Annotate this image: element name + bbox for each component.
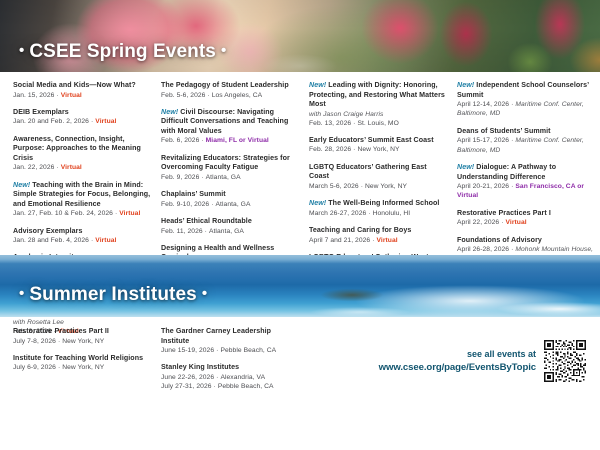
event-item[interactable]: New! Dialogue: A Pathway to Understandin… [457,163,599,201]
event-item[interactable]: Revitalizing Educators: Strategies for O… [161,154,300,182]
cta-text: see all events at www.csee.org/page/Even… [379,348,536,375]
event-meta-alt: July 27-31, 2026·Pebble Beach, CA [161,382,300,391]
event-title: New! Independent School Counselors’ Summ… [457,81,599,100]
event-title: New! Leading with Dignity: Honoring, Pro… [309,81,448,110]
event-meta: Feb. 5-6, 2026·Los Angeles, CA [161,91,300,100]
spring-events-grid: Social Media and Kids—Now What? Jan. 15,… [0,72,600,255]
event-location: Virtual [506,219,527,226]
event-meta: Feb. 28, 2026·New York, NY [309,145,448,154]
event-location: Virtual [95,237,116,244]
event-presenter: with Rosetta Lee [13,318,152,327]
event-meta: April 15-17, 2026·Maritime Conf. Center,… [457,136,599,155]
event-title: Chaplains’ Summit [161,190,300,200]
event-title: Advisory Exemplars [13,227,152,237]
event-dates: April 7 and 21, 2026 [309,237,370,244]
spring-banner-title: •CSEE Spring Events• [14,41,231,63]
event-title: LGBTQ Educators’ Gathering East Coast [309,163,448,182]
event-location: Virtual [119,210,140,217]
event-meta: Feb. 6, 2026·Miami, FL or Virtual [161,136,300,145]
new-badge: New! [457,163,474,171]
event-meta: April 20-21, 2026·San Francisco, CA or V… [457,182,599,201]
summer-column-1: Restorative Practices Part II July 7-8, … [13,327,152,387]
event-dates: Feb. 13, 2026 [309,120,351,127]
new-badge: New! [161,108,178,116]
event-dates: Jan. 27, Feb. 10 & Feb. 24, 2026 [13,210,113,217]
summer-banner-title-text: Summer Institutes [29,284,196,305]
event-title-text: Teaching with the Brain in Mind: Simple … [13,181,150,208]
event-location: St. Louis, MO [357,120,398,127]
event-meta: April 7 and 21, 2026·Virtual [309,236,448,245]
event-title-text: Civil Discourse: Navigating Difficult Co… [161,108,288,135]
event-item[interactable]: Institute for Teaching World Religions J… [13,354,152,373]
event-item[interactable]: Heads’ Ethical Roundtable Feb. 11, 2026·… [161,217,300,236]
event-title: Foundations of Advisory [457,236,599,246]
event-item[interactable]: Restorative Practices Part I April 22, 2… [457,209,599,228]
event-item[interactable]: Advisory Exemplars Jan. 28 and Feb. 4, 2… [13,227,152,246]
event-location: Alexandria, VA [220,374,265,381]
event-location: Los Angeles, CA [212,92,262,99]
event-dates: Feb. 6, 2026 [161,137,199,144]
cta-line-1: see all events at [379,348,536,361]
new-badge: New! [457,81,474,89]
event-dates: Jan. 15, 2026 [13,92,54,99]
event-title: Heads’ Ethical Roundtable [161,217,300,227]
summer-column-2: The Gardner Carney Leadership Institute … [161,327,300,387]
new-badge: New! [309,81,326,89]
bullet-right-icon: • [197,285,212,302]
event-item[interactable]: New! Teaching with the Brain in Mind: Si… [13,181,152,219]
event-dates-alt: July 27-31, 2026 [161,383,212,390]
event-dates: March 5-6, 2026 [309,183,359,190]
event-dates: Feb. 5-6, 2026 [161,92,205,99]
event-title-text: Independent School Counselors’ Summit [457,81,589,99]
event-item[interactable]: Deans of Students’ Summit April 15-17, 2… [457,127,599,155]
event-location: Virtual [61,164,82,171]
event-title: Revitalizing Educators: Strategies for O… [161,154,300,173]
event-location: Pebble Beach, CA [220,347,276,354]
event-title: Stanley King Institutes [161,363,300,373]
event-title: The Gardner Carney Leadership Institute [161,327,300,346]
event-dates: Jan. 20 and Feb. 2, 2026 [13,118,89,125]
event-title: The Pedagogy of Student Leadership [161,81,300,91]
event-meta: Feb. 9, 2026·Atlanta, GA [161,173,300,182]
event-item[interactable]: New! The Well-Being Informed School Marc… [309,199,448,218]
event-item[interactable]: New! Civil Discourse: Navigating Difficu… [161,108,300,146]
event-location: Virtual [61,92,82,99]
event-meta: July 7-8, 2026·New York, NY [13,337,152,346]
event-location: New York, NY [62,364,104,371]
new-badge: New! [13,181,30,189]
cta-url[interactable]: www.csee.org/page/EventsByTopic [379,361,536,375]
event-dates: Feb. 28, 2026 [309,146,351,153]
event-dates: April 20-21, 2026 [457,183,509,190]
event-dates: March 26-27, 2026 [309,210,366,217]
event-location: Virtual [95,118,116,125]
event-title: Deans of Students’ Summit [457,127,599,137]
spring-column-2: The Pedagogy of Student Leadership Feb. … [161,81,300,255]
event-location: New York, NY [62,338,104,345]
cta-block[interactable]: see all events at www.csee.org/page/Even… [309,327,590,387]
event-location: Honolulu, HI [373,210,411,217]
event-location: Atlanta, GA [206,174,241,181]
event-title-text: The Well-Being Informed School [328,199,439,207]
event-meta: July 6-9, 2026·New York, NY [13,363,152,372]
event-dates: Feb. 9, 2026 [161,174,199,181]
spring-banner-title-text: CSEE Spring Events [29,41,216,62]
event-item[interactable]: Stanley King Institutes June 22-26, 2026… [161,363,300,391]
event-meta: Jan. 27, Feb. 10 & Feb. 24, 2026·Virtual [13,209,152,218]
spring-column-3: New! Leading with Dignity: Honoring, Pro… [309,81,448,255]
bullet-left-icon: • [14,285,29,302]
event-meta: June 22-26, 2026·Alexandria, VA [161,373,300,382]
event-dates: April 12-14, 2026 [457,101,509,108]
event-meta: Jan. 22, 2026·Virtual [13,163,152,172]
event-dates: Feb. 11, 2026 [161,228,203,235]
event-dates: July 6-9, 2026 [13,364,56,371]
event-title: New! Teaching with the Brain in Mind: Si… [13,181,152,210]
event-dates: April 26-28, 2026 [457,246,509,253]
spring-column-1: Social Media and Kids—Now What? Jan. 15,… [13,81,152,255]
event-title: New! Dialogue: A Pathway to Understandin… [457,163,599,182]
event-item[interactable]: Social Media and Kids—Now What? Jan. 15,… [13,81,152,100]
spring-banner: •CSEE Spring Events• [0,0,600,72]
summer-banner-title: •Summer Institutes• [14,284,212,306]
event-location-alt: Pebble Beach, CA [218,383,274,390]
event-title: New! Civil Discourse: Navigating Difficu… [161,108,300,137]
event-title: Social Media and Kids—Now What? [13,81,152,91]
event-item[interactable]: LGBTQ Educators’ Gathering East Coast Ma… [309,163,448,191]
event-meta: April 22, 2026·Virtual [457,218,599,227]
event-item[interactable]: DEIB Exemplars Jan. 20 and Feb. 2, 2026·… [13,108,152,127]
summer-banner: •Summer Institutes• [0,255,600,317]
event-meta: March 5-6, 2026·New York, NY [309,182,448,191]
event-item[interactable]: The Pedagogy of Student Leadership Feb. … [161,81,300,100]
event-meta: Jan. 28 and Feb. 4, 2026·Virtual [13,236,152,245]
event-item[interactable]: Awareness, Connection, Insight, Purpose:… [13,135,152,173]
event-location: Atlanta, GA [216,201,251,208]
event-item[interactable]: Restorative Practices Part II July 7-8, … [13,327,152,346]
event-item[interactable]: Chaplains’ Summit Feb. 9-10, 2026·Atlant… [161,190,300,209]
event-location: Virtual [377,237,398,244]
event-dates: April 15-17, 2026 [457,137,509,144]
event-title: DEIB Exemplars [13,108,152,118]
event-dates: Feb. 9-10, 2026 [161,201,209,208]
qr-code-icon[interactable] [544,340,586,382]
event-item[interactable]: The Gardner Carney Leadership Institute … [161,327,300,355]
event-item[interactable]: Teaching and Caring for Boys April 7 and… [309,226,448,245]
event-meta: Feb. 13, 2026·St. Louis, MO [309,119,448,128]
event-title: Institute for Teaching World Religions [13,354,152,364]
event-presenter: with Jason Craige Harris [309,110,448,119]
event-meta: April 12-14, 2026·Maritime Conf. Center,… [457,100,599,119]
event-dates: April 22, 2026 [457,219,499,226]
event-title-text: Leading with Dignity: Honoring, Protecti… [309,81,445,108]
event-dates: Jan. 22, 2026 [13,164,54,171]
event-title: Early Educators’ Summit East Coast [309,136,448,146]
event-meta: Jan. 15, 2026·Virtual [13,91,152,100]
bullet-left-icon: • [14,42,29,59]
event-item[interactable]: New! Independent School Counselors’ Summ… [457,81,599,119]
event-title: Restorative Practices Part II [13,327,152,337]
event-item[interactable]: Early Educators’ Summit East Coast Feb. … [309,136,448,155]
event-location: Miami, FL or Virtual [206,137,269,144]
event-dates: June 15-19, 2026 [161,347,214,354]
event-title: New! The Well-Being Informed School [309,199,448,209]
new-badge: New! [309,199,326,207]
event-meta: Feb. 11, 2026·Atlanta, GA [161,227,300,236]
event-dates: June 22-26, 2026 [161,374,214,381]
event-location: New York, NY [365,183,407,190]
event-location: Atlanta, GA [209,228,244,235]
summer-events-grid: Restorative Practices Part II July 7-8, … [0,317,600,387]
event-dates: Jan. 28 and Feb. 4, 2026 [13,237,89,244]
event-meta: Jan. 20 and Feb. 2, 2026·Virtual [13,117,152,126]
event-title: Restorative Practices Part I [457,209,599,219]
bullet-right-icon: • [216,42,231,59]
event-location: New York, NY [357,146,399,153]
event-meta: March 26-27, 2026·Honolulu, HI [309,209,448,218]
event-meta: Feb. 9-10, 2026·Atlanta, GA [161,200,300,209]
spring-column-4: New! Independent School Counselors’ Summ… [457,81,599,255]
event-meta: June 15-19, 2026·Pebble Beach, CA [161,346,300,355]
event-title: Awareness, Connection, Insight, Purpose:… [13,135,152,164]
event-item[interactable]: New! Leading with Dignity: Honoring, Pro… [309,81,448,128]
event-dates: July 7-8, 2026 [13,338,56,345]
event-title: Teaching and Caring for Boys [309,226,448,236]
